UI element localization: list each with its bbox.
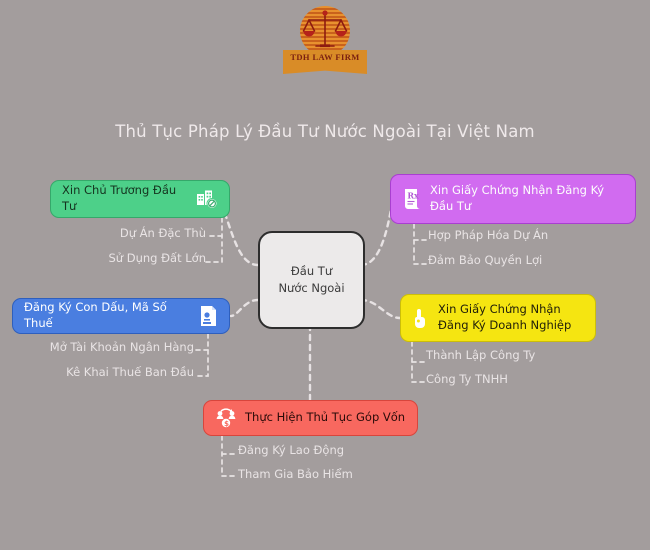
pointing-hand-icon	[412, 307, 430, 329]
sub-item-yellow-2[interactable]: Công Ty TNHH	[426, 372, 508, 386]
branch-node-xin-giay-chung-nhan-dang-ky-dau-tu[interactable]: Rx Xin Giấy Chứng Nhận Đăng Ký Đầu Tư	[390, 174, 636, 224]
sub-item-green-2[interactable]: Sử Dụng Đất Lớn	[40, 251, 206, 265]
sub-item-red-2[interactable]: Tham Gia Bảo Hiểm	[238, 467, 353, 481]
branch-label: Xin Chủ Trương Đầu Tư	[62, 183, 188, 214]
prescription-document-icon: Rx	[402, 188, 422, 210]
sub-item-green-1[interactable]: Dự Án Đặc Thù	[40, 226, 206, 240]
sub-item-blue-1[interactable]: Mở Tài Khoản Ngân Hàng	[30, 340, 194, 354]
money-transfer-icon: $	[215, 408, 237, 428]
svg-text:Rx: Rx	[407, 191, 419, 201]
center-node-line2: Nước Ngoài	[278, 280, 344, 297]
svg-text:$: $	[224, 420, 229, 428]
sub-item-red-1[interactable]: Đăng Ký Lao Động	[238, 443, 344, 457]
branch-label: Thực Hiện Thủ Tục Góp Vốn	[245, 410, 405, 426]
center-node-line1: Đầu Tư	[278, 263, 344, 280]
building-badge-icon	[196, 189, 218, 209]
branch-label: Đăng Ký Con Dấu, Mã Số Thuế	[24, 300, 190, 331]
stamp-document-icon	[198, 305, 218, 327]
branch-node-xin-chu-truong-dau-tu[interactable]: Xin Chủ Trương Đầu Tư	[50, 180, 230, 218]
sub-item-blue-2[interactable]: Kê Khai Thuế Ban Đầu	[30, 365, 194, 379]
mindmap-canvas: TDH LAW FIRM Thủ Tục Pháp Lý Đầu Tư Nước…	[0, 0, 650, 550]
branch-label: Xin Giấy Chứng Nhận Đăng Ký Doanh Nghiệp	[438, 302, 584, 333]
center-node[interactable]: Đầu Tư Nước Ngoài	[258, 231, 365, 329]
branch-node-dang-ky-con-dau-ma-so-thue[interactable]: Đăng Ký Con Dấu, Mã Số Thuế	[12, 298, 230, 334]
sub-item-purple-2[interactable]: Đảm Bảo Quyền Lợi	[428, 253, 542, 267]
branch-node-thuc-hien-thu-tuc-gop-von[interactable]: $ Thực Hiện Thủ Tục Góp Vốn	[203, 400, 418, 436]
sub-item-yellow-1[interactable]: Thành Lập Công Ty	[426, 348, 535, 362]
sub-item-purple-1[interactable]: Hợp Pháp Hóa Dự Án	[428, 228, 548, 242]
branch-label: Xin Giấy Chứng Nhận Đăng Ký Đầu Tư	[430, 183, 624, 214]
branch-node-xin-giay-chung-nhan-dang-ky-doanh-nghiep[interactable]: Xin Giấy Chứng Nhận Đăng Ký Doanh Nghiệp	[400, 294, 596, 342]
